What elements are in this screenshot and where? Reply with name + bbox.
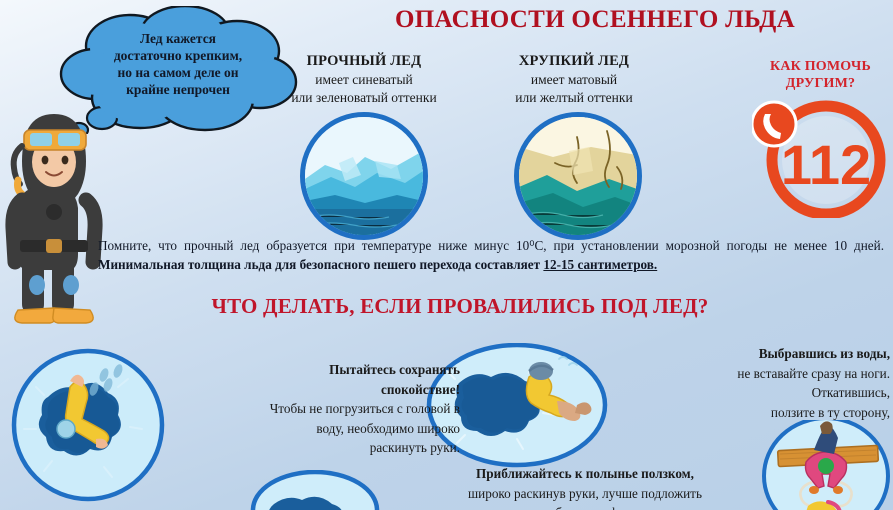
help-title-line-2: ДРУГИМ? bbox=[748, 75, 893, 92]
approach-body-2: под себя лыжи, фанеру bbox=[420, 503, 750, 510]
advice-out-of-water: Выбравшись из воды, не вставайте сразу н… bbox=[614, 344, 890, 422]
ice-fragile-heading: ХРУПКИЙ ЛЕД bbox=[474, 52, 674, 70]
calm-bold-1: Пытайтесь сохранять bbox=[148, 360, 460, 380]
fragile-ice-circle-icon bbox=[514, 112, 642, 240]
bubble-line-3: но на самом деле он bbox=[63, 64, 293, 81]
advice-approach-hole: Приближайтесь к полынье ползком, широко … bbox=[420, 464, 750, 510]
calm-body-1: Чтобы не погрузиться с головой в bbox=[148, 399, 460, 419]
emergency-number-text: 112 bbox=[781, 133, 871, 196]
approach-body-1: широко раскинув руки, лучше подложить bbox=[420, 484, 750, 504]
help-title-line-1: КАК ПОМОЧЬ bbox=[748, 58, 893, 75]
remember-paragraph: Помните, что прочный лед образуется при … bbox=[98, 236, 884, 274]
ice-strong-sub-1: имеет синеватый bbox=[264, 71, 464, 88]
help-others-title: КАК ПОМОЧЬ ДРУГИМ? bbox=[748, 58, 893, 92]
bubble-line-1: Лед кажется bbox=[63, 30, 293, 47]
ice-strong-sub-2: или зеленоватый оттенки bbox=[264, 89, 464, 106]
ice-type-strong: ПРОЧНЫЙ ЛЕД имеет синеватый или зеленова… bbox=[264, 52, 464, 106]
diver-boy-icon bbox=[2, 100, 107, 325]
remember-bold-part: Минимальная толщина льда для безопасного… bbox=[98, 257, 543, 272]
out-bold-1: Выбравшись из воды, bbox=[614, 344, 890, 364]
person-falling-through-ice-icon bbox=[8, 345, 168, 505]
ice-fragile-sub-1: имеет матовый bbox=[474, 71, 674, 88]
strong-ice-circle-icon bbox=[300, 112, 428, 240]
ice-type-fragile: ХРУПКИЙ ЛЕД имеет матовый или желтый отт… bbox=[474, 52, 674, 106]
page-title: ОПАСНОСТИ ОСЕННЕГО ЛЬДА bbox=[355, 6, 835, 34]
ice-fragile-sub-2: или желтый оттенки bbox=[474, 89, 674, 106]
remember-part-2: , при установлении морозной погоды не ме… bbox=[543, 238, 884, 253]
out-body-2: Откатившись, bbox=[614, 383, 890, 403]
emergency-112-badge: 112 bbox=[752, 98, 890, 218]
thought-bubble-text: Лед кажется достаточно крепким, но на са… bbox=[63, 30, 293, 98]
remember-degree: ⁰C bbox=[529, 238, 543, 253]
advice-stay-calm: Пытайтесь сохранять спокойствие! Чтобы н… bbox=[148, 360, 460, 458]
remember-underlined-part: 12-15 сантиметров. bbox=[543, 257, 657, 272]
approach-bold-1: Приближайтесь к полынье ползком, bbox=[420, 464, 750, 484]
out-body-1: не вставайте сразу на ноги. bbox=[614, 364, 890, 384]
calm-body-3: раскинуть руки. bbox=[148, 438, 460, 458]
remember-part-1: Помните, что прочный лед образуется при … bbox=[98, 238, 529, 253]
bubble-line-4: крайне непрочен bbox=[63, 81, 293, 98]
rescue-with-board-icon bbox=[762, 420, 890, 510]
out-body-3: ползите в ту сторону, bbox=[614, 403, 890, 423]
section-2-title: ЧТО ДЕЛАТЬ, ЕСЛИ ПРОВАЛИЛИСЬ ПОД ЛЕД? bbox=[150, 294, 770, 319]
calm-bold-2: спокойствие! bbox=[148, 380, 460, 400]
ice-hole-icon bbox=[250, 470, 380, 510]
bubble-line-2: достаточно крепким, bbox=[63, 47, 293, 64]
ice-strong-heading: ПРОЧНЫЙ ЛЕД bbox=[264, 52, 464, 70]
poster-canvas: ОПАСНОСТИ ОСЕННЕГО ЛЬДА bbox=[0, 0, 893, 510]
calm-body-2: воду, необходимо широко bbox=[148, 419, 460, 439]
